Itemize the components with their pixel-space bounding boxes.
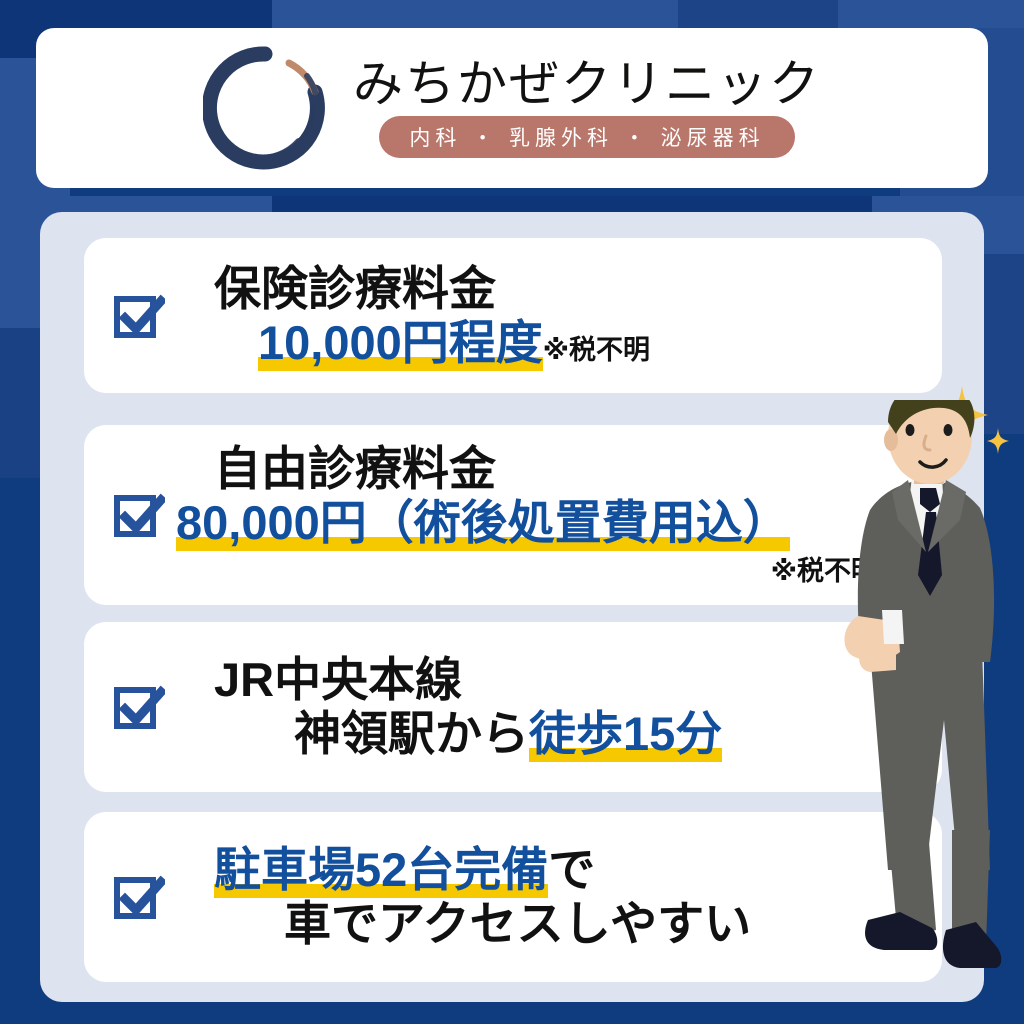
bg-block bbox=[272, 0, 678, 30]
checkbox-checked-icon[interactable] bbox=[102, 290, 176, 342]
list-item-text: 自由診療料金 80,000円（術後処置費用込） ※税不明 bbox=[176, 442, 942, 588]
item-highlight: 駐車場52台完備 bbox=[214, 843, 548, 898]
item-highlight: 徒歩15分 bbox=[529, 707, 722, 762]
clinic-header-card: みちかぜクリニック 内科 ・ 乳腺外科 ・ 泌尿器科 bbox=[36, 28, 988, 188]
item-note: ※税不明 bbox=[543, 335, 650, 365]
specialty-badge: 内科 ・ 乳腺外科 ・ 泌尿器科 bbox=[379, 116, 794, 158]
poster-canvas: みちかぜクリニック 内科 ・ 乳腺外科 ・ 泌尿器科 保険診療料金 10,000… bbox=[0, 0, 1024, 1024]
item-line-2: 10,000円程度※税不明 bbox=[176, 316, 932, 370]
item-plain: 神領駅から bbox=[294, 707, 529, 760]
list-item[interactable]: JR中央本線 神領駅から徒歩15分 bbox=[84, 622, 942, 792]
enso-brush-circle-icon bbox=[203, 46, 327, 170]
checkbox-checked-icon[interactable] bbox=[102, 489, 176, 541]
bg-block bbox=[678, 0, 838, 30]
clinic-name: みちかぜクリニック bbox=[353, 58, 821, 111]
list-item-text: 保険診療料金 10,000円程度※税不明 bbox=[176, 262, 942, 369]
item-line-2: 神領駅から徒歩15分 bbox=[176, 707, 932, 761]
item-line-1: 自由診療料金 bbox=[176, 442, 932, 496]
list-item[interactable]: 保険診療料金 10,000円程度※税不明 bbox=[84, 238, 942, 393]
checkbox-checked-icon[interactable] bbox=[102, 681, 176, 733]
list-item[interactable]: 駐車場52台完備で 車でアクセスしやすい bbox=[84, 812, 942, 982]
checkbox-checked-icon[interactable] bbox=[102, 871, 176, 923]
item-line-1: 保険診療料金 bbox=[176, 262, 932, 316]
item-highlight: 10,000円程度 bbox=[258, 316, 543, 371]
item-highlight: 80,000円（術後処置費用込） bbox=[176, 496, 790, 551]
item-plain: で bbox=[548, 843, 595, 896]
list-item-text: JR中央本線 神領駅から徒歩15分 bbox=[176, 653, 942, 760]
bg-block bbox=[838, 0, 1024, 28]
item-note: ※税不明 bbox=[176, 549, 932, 588]
item-line-1: 駐車場52台完備で bbox=[176, 843, 932, 897]
item-line-2: 車でアクセスしやすい bbox=[176, 897, 932, 951]
list-item[interactable]: 自由診療料金 80,000円（術後処置費用込） ※税不明 bbox=[84, 425, 942, 605]
businessman-illustration bbox=[840, 400, 1024, 1000]
clinic-name-block: みちかぜクリニック 内科 ・ 乳腺外科 ・ 泌尿器科 bbox=[353, 58, 821, 159]
item-line-1: JR中央本線 bbox=[176, 653, 932, 707]
item-line-2: 80,000円（術後処置費用込） bbox=[176, 496, 932, 550]
list-item-text: 駐車場52台完備で 車でアクセスしやすい bbox=[176, 843, 942, 950]
